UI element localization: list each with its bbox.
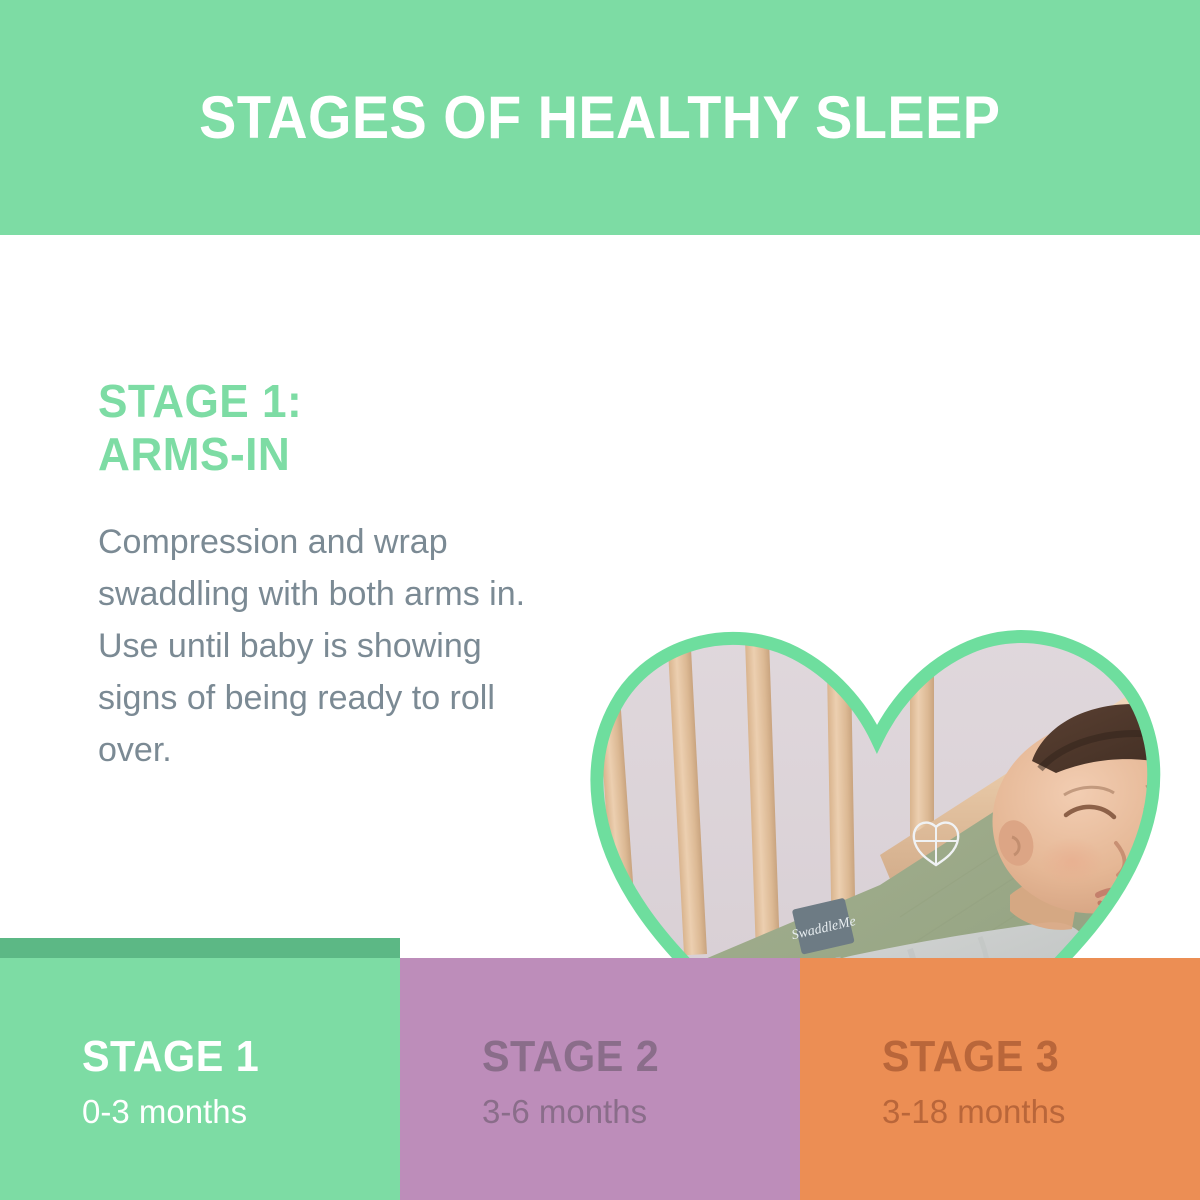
stage-tab-2-name: STAGE 2: [482, 1034, 781, 1080]
stage-tab-1[interactable]: STAGE 1 0-3 months: [0, 938, 400, 1200]
stage-tab-3-age: 3-18 months: [882, 1094, 1200, 1130]
stage-tab-1-age: 0-3 months: [82, 1094, 400, 1130]
stage-description: Compression and wrap swaddling with both…: [98, 516, 548, 776]
infographic-page: STAGES OF HEALTHY SLEEP STAGE 1: ARMS-IN…: [0, 0, 1200, 1200]
stage-tab-1-active-cap: [0, 938, 400, 958]
page-title: STAGES OF HEALTHY SLEEP: [199, 83, 1000, 152]
stage-heading: STAGE 1: ARMS-IN: [98, 375, 530, 482]
stage-tab-3-name: STAGE 3: [882, 1034, 1181, 1080]
stage-tab-3[interactable]: STAGE 3 3-18 months: [800, 958, 1200, 1200]
page-header: STAGES OF HEALTHY SLEEP: [0, 0, 1200, 235]
stage-text-block: STAGE 1: ARMS-IN Compression and wrap sw…: [98, 375, 548, 776]
stage-tab-2[interactable]: STAGE 2 3-6 months: [400, 958, 800, 1200]
stage-tab-2-age: 3-6 months: [482, 1094, 800, 1130]
main-content: STAGE 1: ARMS-IN Compression and wrap sw…: [0, 235, 1200, 938]
stage-tabs: STAGE 1 0-3 months STAGE 2 3-6 months ST…: [0, 938, 1200, 1200]
stage-tab-1-name: STAGE 1: [82, 1034, 381, 1080]
